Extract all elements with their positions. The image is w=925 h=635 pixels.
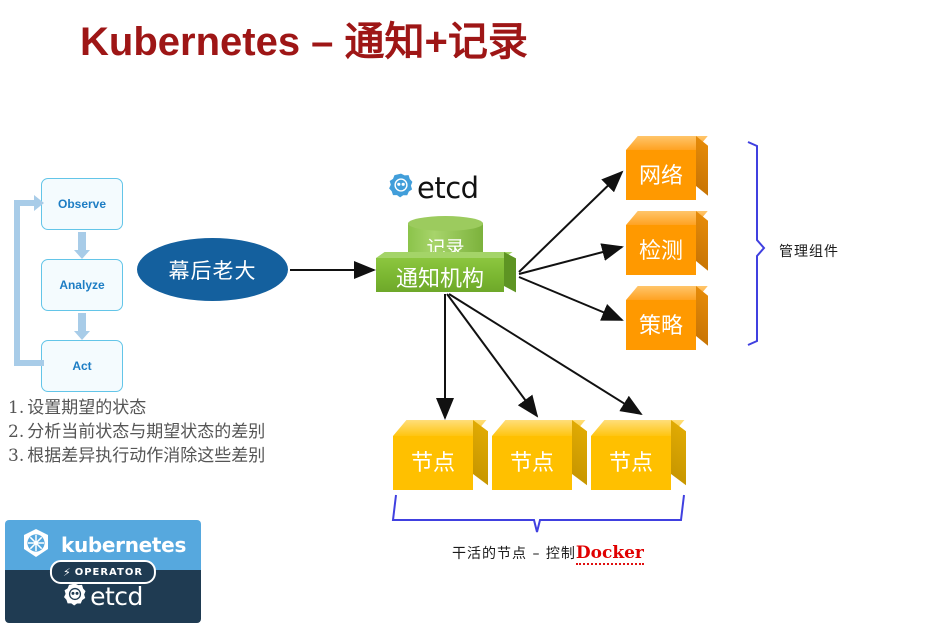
cube-side-face: [473, 420, 488, 485]
control-loop-label-act: Act: [42, 359, 122, 373]
etcd-logo: etcd: [388, 172, 479, 203]
management-brace-label: 管理组件: [779, 241, 839, 261]
etcd-logo-text: etcd: [417, 173, 479, 203]
management-cube-label-policy: 策略: [626, 308, 696, 340]
management-cube-policy[interactable]: 策略: [626, 286, 708, 350]
arrow-observe-to-analyze-shaft: [78, 232, 86, 250]
management-cube-label-network: 网络: [626, 158, 696, 190]
worker-node-cube-3[interactable]: 节点: [591, 420, 686, 490]
workers-caption-prefix: 干活的节点 – 控制: [452, 546, 576, 562]
badge-etcd-label: etcd: [90, 582, 143, 611]
control-loop-box-observe[interactable]: Observe: [41, 178, 123, 230]
arrow-notification-to-network: [519, 172, 622, 272]
cube-side-face: [671, 420, 686, 485]
slide-canvas: Kubernetes – 通知+记录 Observe Analyze Act 1…: [0, 0, 925, 635]
notification-box[interactable]: 通知机构: [376, 252, 516, 292]
arrow-observe-to-analyze-head: [74, 250, 90, 259]
control-loop-box-act[interactable]: Act: [41, 340, 123, 392]
operator-pill: ⚡ OPERATOR: [50, 560, 156, 584]
badge-kubernetes-label: kubernetes: [61, 533, 186, 557]
management-brace: [748, 142, 764, 345]
operator-pill-label: OPERATOR: [75, 567, 143, 578]
record-cylinder-top: [408, 216, 483, 231]
step-text: 设置期望的状态: [27, 396, 146, 420]
kubernetes-etcd-operator-badge[interactable]: kubernetes ⚡ OPERATOR etcd: [5, 520, 201, 623]
management-cube-label-monitor: 检测: [626, 233, 696, 265]
cube-side-face: [696, 211, 708, 271]
list-item: 3.根据差异执行动作消除这些差别: [8, 444, 338, 468]
cube-side-face: [572, 420, 587, 485]
steps-list: 1.设置期望的状态 2.分析当前状态与期望状态的差别 3.根据差异执行动作消除这…: [8, 396, 338, 468]
kubernetes-helm-icon: [20, 527, 52, 564]
control-loop-label-observe: Observe: [42, 197, 122, 211]
step-number: 3.: [8, 444, 24, 468]
cube-side-face: [696, 286, 708, 346]
control-loop-label-analyze: Analyze: [42, 278, 122, 292]
management-cube-network[interactable]: 网络: [626, 136, 708, 200]
arrow-notification-to-policy: [519, 277, 622, 320]
control-loop-box-analyze[interactable]: Analyze: [41, 259, 123, 311]
bolt-icon: ⚡: [63, 566, 71, 579]
boss-ellipse[interactable]: 幕后老大: [137, 238, 288, 301]
arrow-analyze-to-act-head: [74, 331, 90, 340]
arrow-notification-to-monitor: [519, 247, 622, 274]
loop-back-segment-top: [14, 200, 36, 206]
worker-node-cube-2[interactable]: 节点: [492, 420, 587, 490]
worker-node-cube-1[interactable]: 节点: [393, 420, 488, 490]
step-number: 2.: [8, 420, 24, 444]
workers-caption-docker: Docker: [576, 543, 644, 565]
workers-brace-label: 干活的节点 – 控制Docker: [452, 543, 644, 563]
arrow-notification-to-node-2: [447, 294, 537, 416]
loop-back-arrow-head: [34, 195, 44, 211]
boss-ellipse-label: 幕后老大: [137, 255, 288, 285]
loop-back-segment-vertical: [14, 200, 20, 366]
arrow-analyze-to-act-shaft: [78, 313, 86, 331]
list-item: 1.设置期望的状态: [8, 396, 338, 420]
step-number: 1.: [8, 396, 24, 420]
worker-node-label-1: 节点: [393, 445, 473, 477]
notification-box-label: 通知机构: [376, 261, 504, 293]
workers-brace: [393, 495, 684, 532]
etcd-gear-icon: [388, 172, 414, 203]
etcd-gear-icon: [63, 582, 87, 611]
notification-box-side-face: [504, 252, 516, 292]
list-item: 2.分析当前状态与期望状态的差别: [8, 420, 338, 444]
worker-node-label-3: 节点: [591, 445, 671, 477]
management-cube-monitor[interactable]: 检测: [626, 211, 708, 275]
step-text: 分析当前状态与期望状态的差别: [27, 420, 265, 444]
worker-node-label-2: 节点: [492, 445, 572, 477]
arrow-notification-to-node-3: [449, 294, 641, 414]
cube-side-face: [696, 136, 708, 196]
page-title: Kubernetes – 通知+记录: [80, 16, 528, 68]
step-text: 根据差异执行动作消除这些差别: [27, 444, 265, 468]
